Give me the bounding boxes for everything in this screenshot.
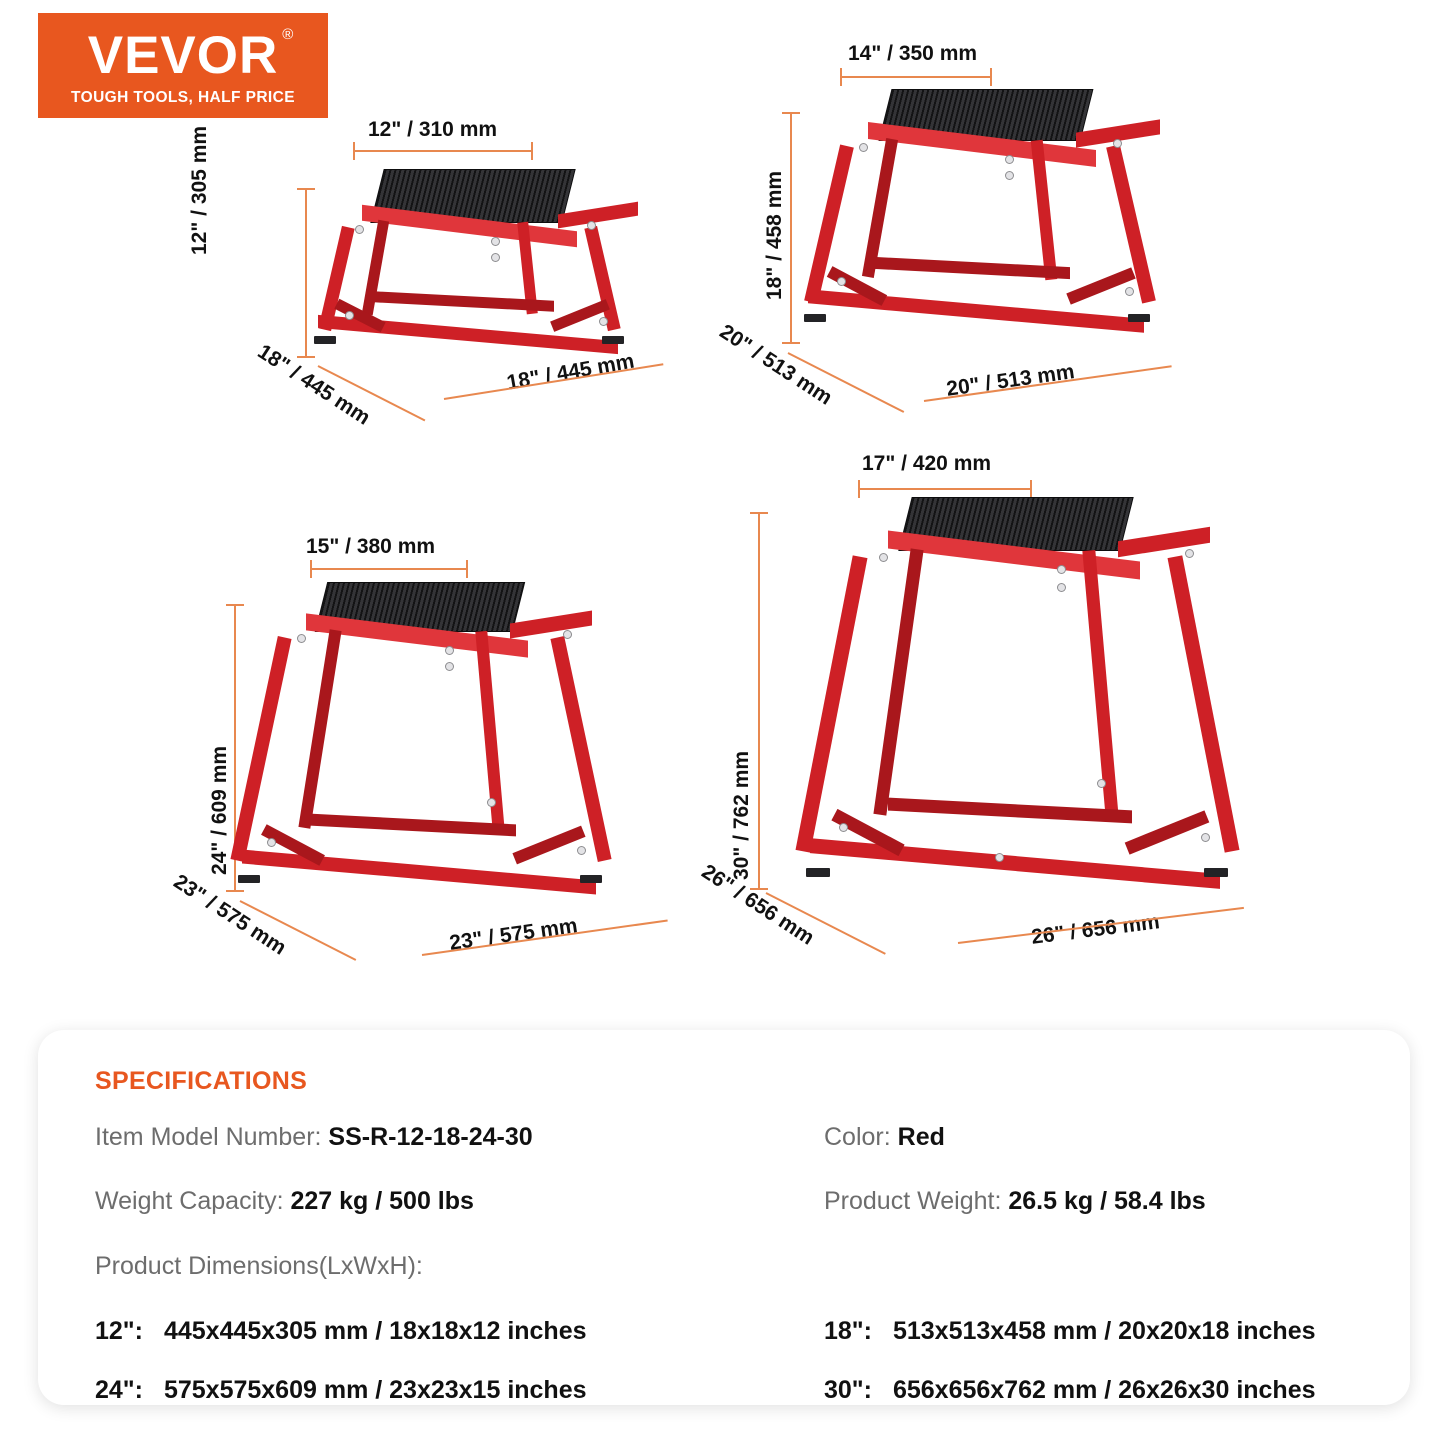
dimension-size-30: 30":: [824, 1376, 872, 1404]
bolt-30-a: [880, 554, 887, 561]
base-rail-side-right-18: [1066, 267, 1135, 304]
bolt-24-f: [578, 847, 585, 854]
box-drawing-30: [810, 490, 1290, 940]
dim-line-top-24: [310, 568, 468, 570]
bolt-12-c: [492, 254, 499, 261]
spec-weight-label: Product Weight:: [824, 1187, 1001, 1215]
dim-height-30: 30" / 762 mm: [730, 751, 754, 880]
bolt-24-b: [446, 647, 453, 654]
leg-back-left-30: [873, 548, 923, 815]
dim-top-width-24: 15" / 380 mm: [306, 535, 435, 559]
leg-back-right-30: [1082, 550, 1118, 818]
spec-capacity-row: Weight Capacity: 227 kg / 500 lbs: [95, 1187, 474, 1216]
base-rail-side-right-24: [512, 826, 585, 865]
bolt-24-d: [564, 631, 571, 638]
spec-model-value: SS-R-12-18-24-30: [328, 1123, 532, 1151]
dim-top-width-12: 12" / 310 mm: [368, 118, 497, 142]
dimension-size-18: 18":: [824, 1317, 872, 1345]
base-rail-front-24: [242, 850, 596, 895]
bolt-30-c: [1058, 584, 1065, 591]
leg-front-left-24: [230, 636, 291, 862]
bolt-18-c: [1006, 172, 1013, 179]
dimension-value-12: 445x445x305 mm / 18x18x12 inches: [164, 1317, 587, 1345]
bolt-24-c: [446, 663, 453, 670]
bolt-18-f: [1126, 288, 1133, 295]
spec-dimensions-label: Product Dimensions(LxWxH):: [95, 1252, 423, 1280]
dim-line-top-12: [353, 150, 533, 152]
top-rail-right-30: [1118, 527, 1210, 558]
base-rail-front-18: [808, 289, 1144, 332]
foot-right-30: [1204, 868, 1228, 877]
dimension-size-12: 12":: [95, 1317, 143, 1345]
dimension-row-18: 18": 513x513x458 mm / 20x20x18 inches: [824, 1317, 1316, 1346]
dim-top-width-18: 14" / 350 mm: [848, 42, 977, 66]
base-rail-back-18: [874, 257, 1070, 279]
dimension-row-24: 24": 575x575x609 mm / 23x23x15 inches: [95, 1376, 587, 1405]
base-rail-back-24: [310, 814, 516, 837]
spec-weight-value: 26.5 kg / 58.4 lbs: [1008, 1187, 1205, 1215]
bolt-30-h: [996, 854, 1003, 861]
bolt-30-g: [1098, 780, 1105, 787]
foot-left-12: [314, 336, 336, 344]
base-rail-side-right-30: [1125, 810, 1210, 854]
foot-right-12: [602, 336, 624, 344]
dimension-value-18: 513x513x458 mm / 20x20x18 inches: [893, 1317, 1316, 1345]
bolt-12-f: [600, 318, 607, 325]
spec-capacity-label: Weight Capacity:: [95, 1187, 284, 1215]
specifications-title: SPECIFICATIONS: [95, 1067, 307, 1096]
dim-line-top-18: [840, 76, 992, 78]
dim-cap-top-height-24: [226, 604, 244, 606]
spec-weight-row: Product Weight: 26.5 kg / 58.4 lbs: [824, 1187, 1206, 1216]
dim-top-width-30: 17" / 420 mm: [862, 452, 991, 476]
bolt-12-b: [492, 238, 499, 245]
foot-left-18: [804, 314, 826, 322]
dimension-value-30: 656x656x762 mm / 26x26x30 inches: [893, 1376, 1316, 1404]
bolt-30-b: [1058, 566, 1065, 573]
dim-cap-right-top-12: [531, 142, 533, 160]
bolt-30-d: [1186, 550, 1193, 557]
foot-left-30: [806, 868, 830, 877]
dim-height-24: 24" / 609 mm: [208, 746, 232, 875]
dim-line-height-18: [790, 112, 792, 344]
spec-capacity-value: 227 kg / 500 lbs: [290, 1187, 473, 1215]
foot-right-18: [1128, 314, 1150, 322]
dim-cap-left-top-12: [353, 142, 355, 160]
spec-model-row: Item Model Number: SS-R-12-18-24-30: [95, 1123, 533, 1152]
figure-30-inch-box: 17" / 420 mm 30" / 762 mm 26" / 656 mm 2…: [700, 430, 1445, 1000]
box-drawing-12: [300, 160, 660, 400]
top-rail-right-12: [558, 202, 638, 229]
dim-cap-bot-height-24: [226, 890, 244, 892]
box-drawing-24: [248, 575, 668, 935]
foot-left-24: [238, 875, 260, 883]
bolt-18-b: [1006, 156, 1013, 163]
bolt-24-e: [268, 839, 275, 846]
base-rail-front-30: [810, 838, 1220, 889]
box-drawing-18: [798, 82, 1198, 382]
spec-color-label: Color:: [824, 1123, 891, 1151]
bolt-30-e: [840, 824, 847, 831]
spec-model-label: Item Model Number:: [95, 1123, 321, 1151]
bolt-12-a: [356, 226, 363, 233]
bolt-18-e: [838, 278, 845, 285]
dimension-row-12: 12": 445x445x305 mm / 18x18x12 inches: [95, 1317, 587, 1346]
bolt-24-a: [298, 635, 305, 642]
specifications-card: SPECIFICATIONS Item Model Number: SS-R-1…: [38, 1030, 1410, 1405]
leg-front-right-30: [1168, 555, 1240, 852]
spec-color-value: Red: [898, 1123, 945, 1151]
bolt-24-g: [488, 799, 495, 806]
top-rail-right-24: [510, 611, 592, 639]
dimension-row-30: 30": 656x656x762 mm / 26x26x30 inches: [824, 1376, 1316, 1405]
figure-24-inch-box: 15" / 380 mm 24" / 609 mm 23" / 575 mm 2…: [0, 470, 720, 1000]
dimension-size-24: 24":: [95, 1376, 143, 1404]
spec-color-row: Color: Red: [824, 1123, 945, 1152]
leg-back-left-24: [298, 629, 341, 828]
dimension-value-24: 575x575x609 mm / 23x23x15 inches: [164, 1376, 587, 1404]
dim-line-height-30: [758, 512, 760, 890]
figure-12-inch-box: 12" / 310 mm 12" / 305 mm 18" / 445 mm 1…: [0, 0, 720, 460]
spec-dimensions-row: Product Dimensions(LxWxH):: [95, 1252, 423, 1281]
foot-right-24: [580, 875, 602, 883]
dim-height-18: 18" / 458 mm: [763, 171, 787, 300]
base-rail-back-30: [888, 798, 1132, 824]
figure-18-inch-box: 14" / 350 mm 18" / 458 mm 20" / 513 mm 2…: [700, 0, 1445, 460]
bolt-12-e: [346, 312, 353, 319]
dim-cap-top-height-30: [750, 512, 768, 514]
bolt-30-f: [1202, 834, 1209, 841]
dim-height-12: 12" / 305 mm: [188, 126, 212, 255]
bolt-12-d: [588, 222, 595, 229]
bolt-18-d: [1114, 140, 1121, 147]
base-rail-side-right-12: [550, 299, 610, 332]
leg-front-left-30: [796, 555, 868, 852]
bolt-18-a: [860, 144, 867, 151]
